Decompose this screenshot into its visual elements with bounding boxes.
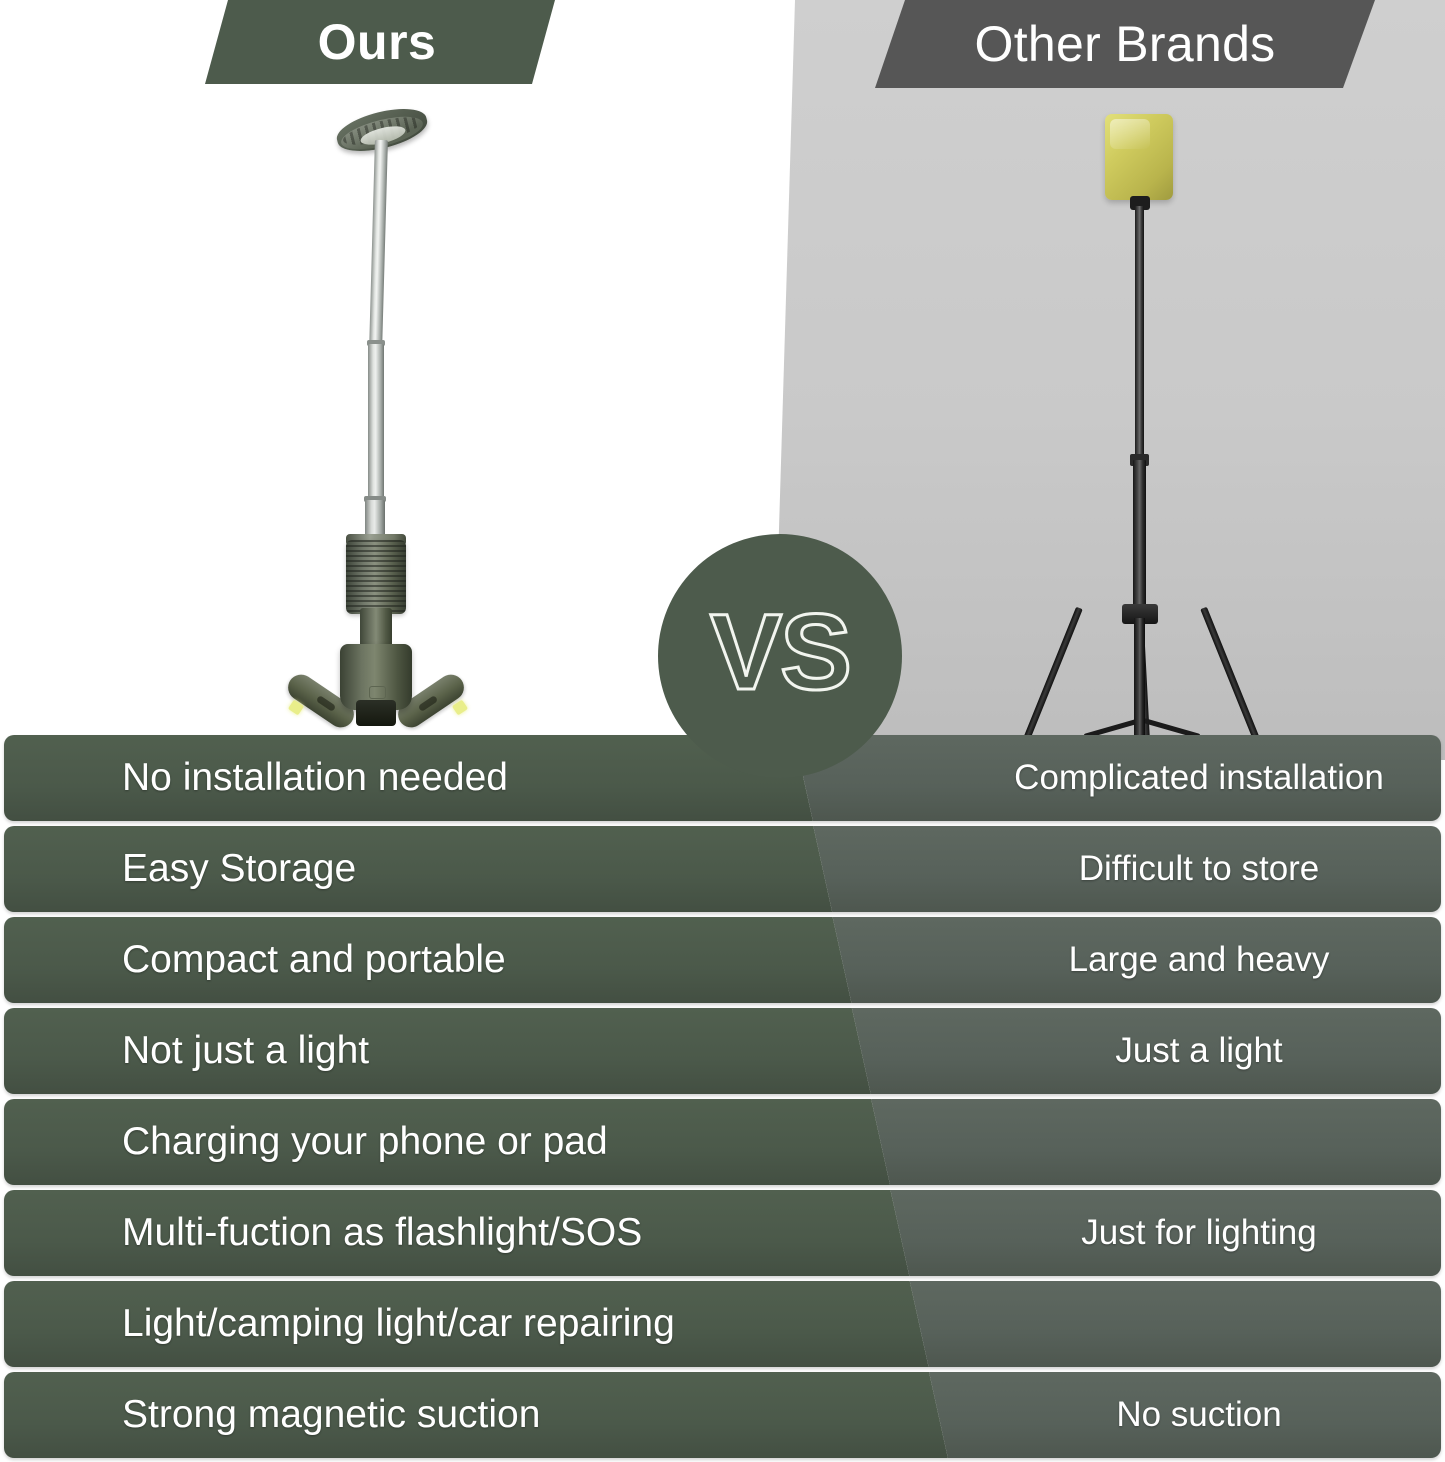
row-other-label: Just for lighting xyxy=(964,1190,1434,1276)
row-other-label xyxy=(964,1281,1434,1367)
row-other-label: Difficult to store xyxy=(964,826,1434,912)
ours-ribbed-grip xyxy=(346,540,406,614)
row-other-label: Just a light xyxy=(964,1008,1434,1094)
row-ours-label: Not just a light xyxy=(122,1008,369,1094)
ours-pole-segment-top xyxy=(369,140,388,350)
row-other-label: Complicated installation xyxy=(964,735,1434,821)
header-banner-ours: Ours xyxy=(205,0,555,84)
header-banner-other-brands: Other Brands xyxy=(875,0,1375,88)
row-ours-label: Easy Storage xyxy=(122,826,356,912)
vs-badge: VS xyxy=(658,534,902,778)
comparison-row: Easy StorageDifficult to store xyxy=(4,826,1441,912)
comparison-row: Light/camping light/car repairing xyxy=(4,1281,1441,1367)
other-pole-bottom xyxy=(1134,618,1145,748)
comparison-row: Multi-fuction as flashlight/SOSJust for … xyxy=(4,1190,1441,1276)
ours-pole-segment-mid xyxy=(368,344,384,504)
comparison-row: Compact and portableLarge and heavy xyxy=(4,917,1441,1003)
comparison-row: Not just a lightJust a light xyxy=(4,1008,1441,1094)
vs-label: VS xyxy=(710,598,850,706)
other-lamp-gloss xyxy=(1110,119,1150,149)
row-other-label: Large and heavy xyxy=(964,917,1434,1003)
header-label-other-brands: Other Brands xyxy=(975,15,1276,73)
row-ours-label: No installation needed xyxy=(122,735,508,821)
ours-product-image xyxy=(268,108,508,758)
other-pole-top xyxy=(1135,206,1144,466)
header-label-ours: Ours xyxy=(318,13,437,71)
row-ours-label: Light/camping light/car repairing xyxy=(122,1281,675,1367)
other-pole-mid xyxy=(1133,460,1146,620)
row-ours-label: Compact and portable xyxy=(122,917,506,1003)
ours-leg-led-right xyxy=(452,700,468,716)
row-other-label xyxy=(964,1099,1434,1185)
comparison-row: Strong magnetic suctionNo suction xyxy=(4,1372,1441,1458)
row-ours-label: Strong magnetic suction xyxy=(122,1372,540,1458)
comparison-rows: No installation neededComplicated instal… xyxy=(0,735,1445,1462)
comparison-infographic: Ours Other Brands VS No installation nee… xyxy=(0,0,1445,1462)
other-product-image xyxy=(1040,108,1280,758)
ours-power-button-icon xyxy=(369,686,386,699)
row-ours-label: Charging your phone or pad xyxy=(122,1099,608,1185)
row-other-label: No suction xyxy=(964,1372,1434,1458)
ours-magnetic-foot xyxy=(356,700,396,726)
comparison-row: Charging your phone or pad xyxy=(4,1099,1441,1185)
row-ours-label: Multi-fuction as flashlight/SOS xyxy=(122,1190,642,1276)
